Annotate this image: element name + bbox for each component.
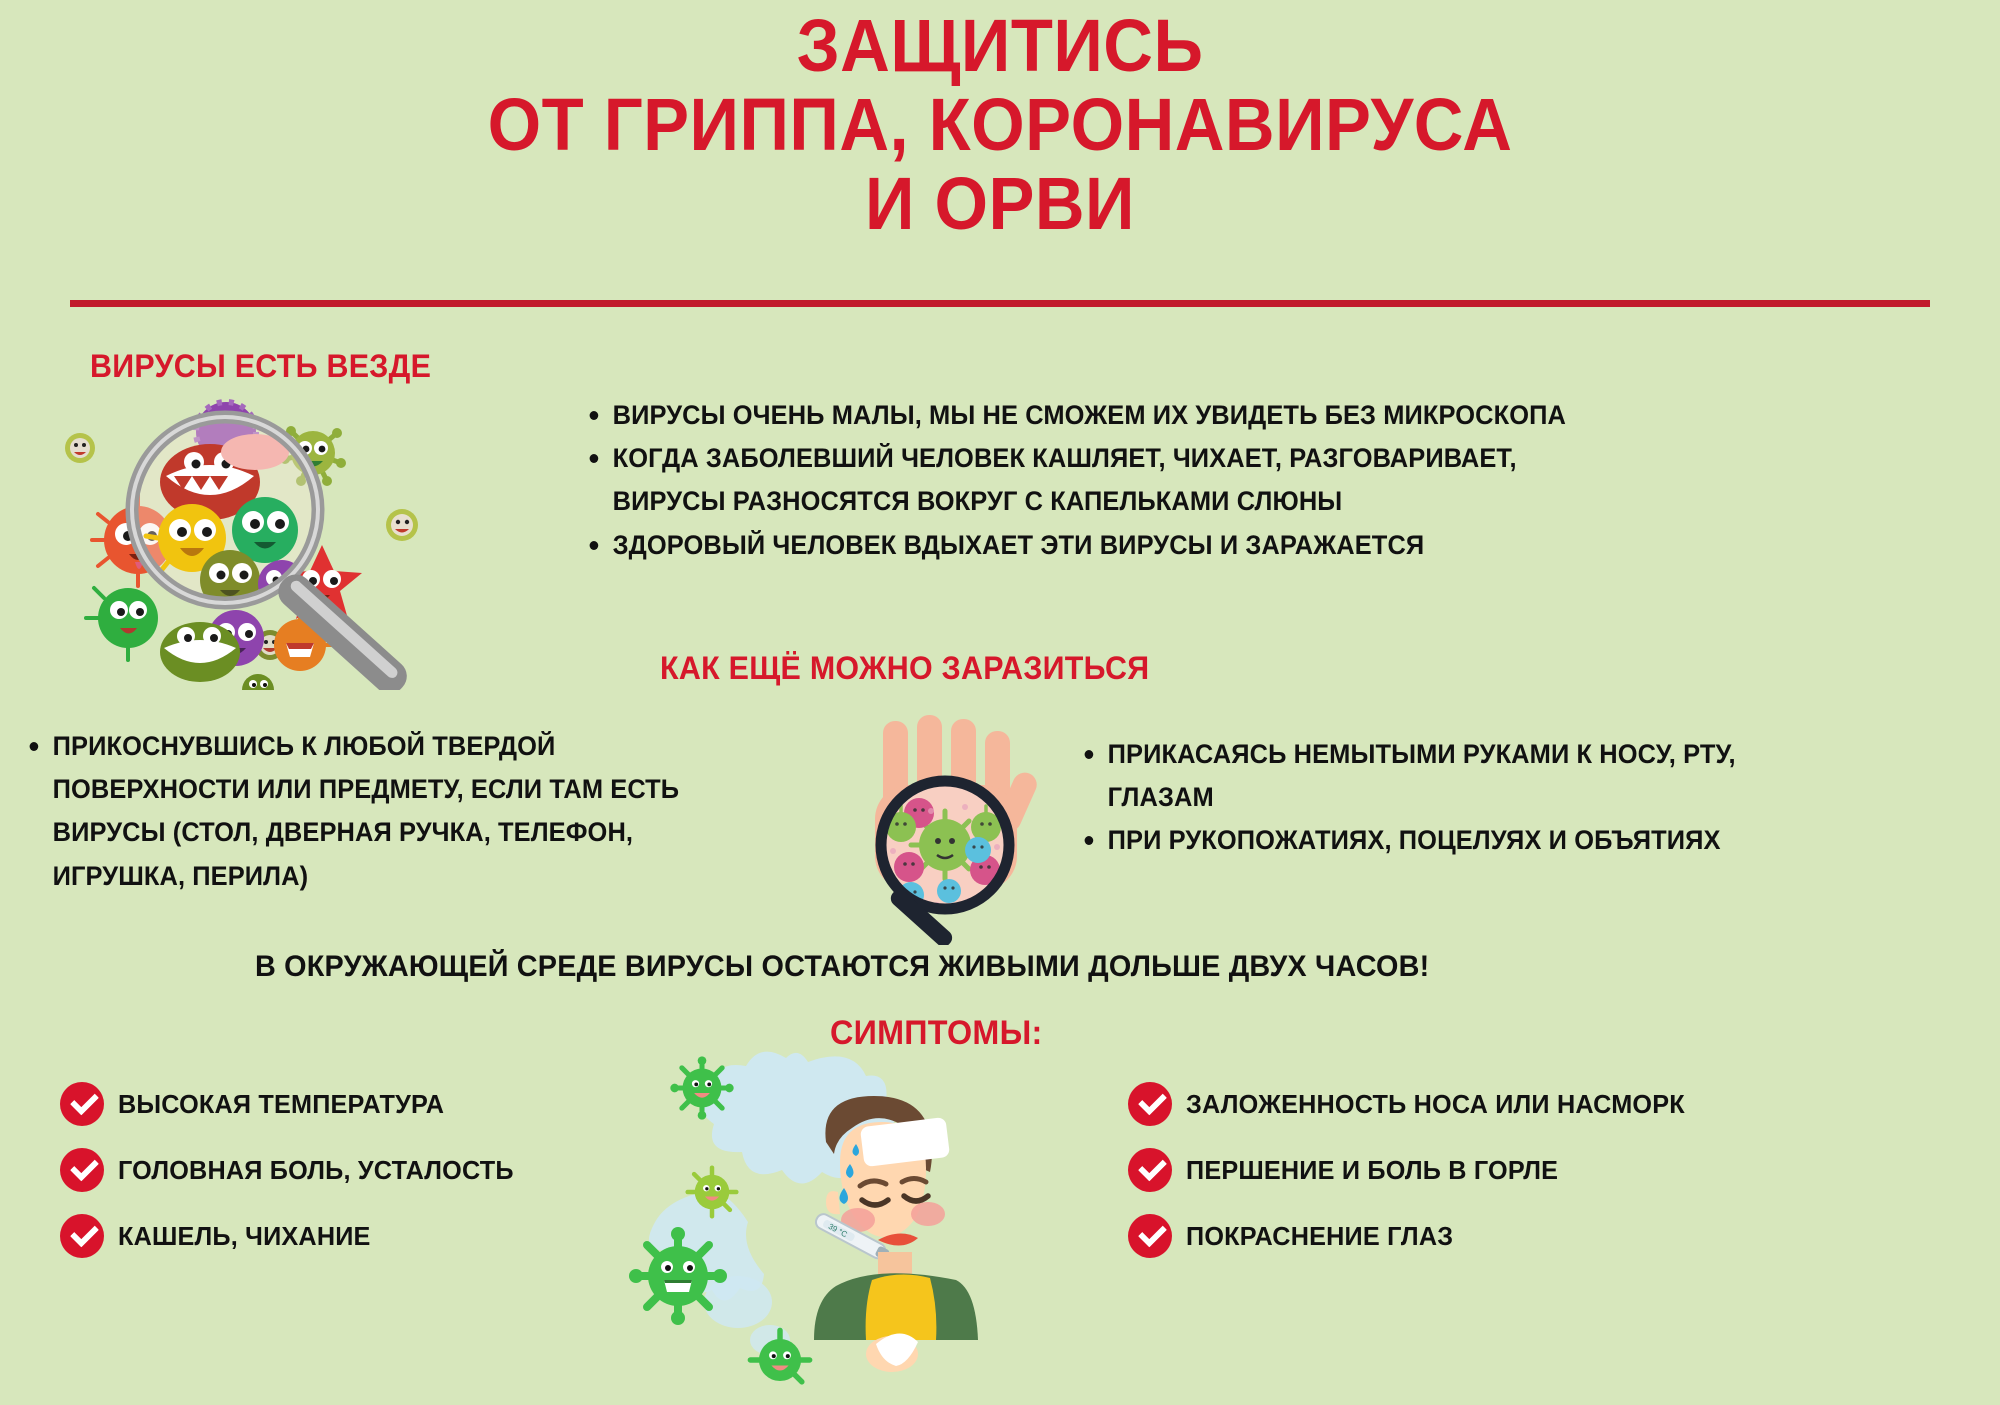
symptom-item-right-1: ЗАЛОЖЕННОСТЬ НОСА ИЛИ НАСМОРК bbox=[1128, 1082, 1700, 1126]
symptom-label: ПЕРШЕНИЕ И БОЛЬ В ГОРЛЕ bbox=[1186, 1155, 1558, 1186]
check-circle-icon bbox=[1128, 1148, 1172, 1192]
title-line-2: ОТ ГРИППА, КОРОНАВИРУСА bbox=[70, 85, 1930, 164]
title-divider bbox=[70, 300, 1930, 307]
list-item: КОГДА ЗАБОЛЕВШИЙ ЧЕЛОВЕК КАШЛЯЕТ, ЧИХАЕТ… bbox=[580, 437, 1566, 480]
list-item: ПРИКОСНУВШИСЬ К ЛЮБОЙ ТВЕРДОЙ bbox=[20, 725, 679, 768]
check-circle-icon bbox=[60, 1148, 104, 1192]
poster-root: ЗАЩИТИСЬ ОТ ГРИППА, КОРОНАВИРУСА И ОРВИ … bbox=[0, 0, 2000, 1403]
symptom-item-right-2: ПЕРШЕНИЕ И БОЛЬ В ГОРЛЕ bbox=[1128, 1148, 1570, 1192]
list-item-continuation: ПОВЕРХНОСТИ ИЛИ ПРЕДМЕТУ, ЕСЛИ ТАМ ЕСТЬ bbox=[20, 768, 679, 811]
symptom-item-left-2: ГОЛОВНАЯ БОЛЬ, УСТАЛОСТЬ bbox=[60, 1148, 526, 1192]
poster-title: ЗАЩИТИСЬ ОТ ГРИППА, КОРОНАВИРУСА И ОРВИ bbox=[0, 6, 2000, 244]
heading-viruses-everywhere: ВИРУСЫ ЕСТЬ ВЕЗДЕ bbox=[90, 348, 431, 385]
symptom-label: КАШЕЛЬ, ЧИХАНИЕ bbox=[118, 1221, 371, 1252]
list-item-continuation: ИГРУШКА, ПЕРИЛА) bbox=[20, 855, 679, 898]
heading-how-else-infect: КАК ЕЩЁ МОЖНО ЗАРАЗИТЬСЯ bbox=[660, 650, 1149, 687]
list-item-continuation: ВИРУСЫ (СТОЛ, ДВЕРНАЯ РУЧКА, ТЕЛЕФОН, bbox=[20, 811, 679, 854]
list-how-else-left: ПРИКОСНУВШИСЬ К ЛЮБОЙ ТВЕРДОЙ ПОВЕРХНОСТ… bbox=[20, 725, 707, 898]
list-item: ВИРУСЫ ОЧЕНЬ МАЛЫ, МЫ НЕ СМОЖЕМ ИХ УВИДЕ… bbox=[580, 394, 1566, 437]
list-item-continuation: ГЛАЗАМ bbox=[1075, 776, 1736, 819]
environment-note: В ОКРУЖАЮЩЕЙ СРЕДЕ ВИРУСЫ ОСТАЮТСЯ ЖИВЫМ… bbox=[255, 950, 1429, 984]
magnifier-germs-illustration bbox=[50, 390, 530, 690]
check-circle-icon bbox=[60, 1082, 104, 1126]
list-item: ПРИКАСАЯСЬ НЕМЫТЫМИ РУКАМИ К НОСУ, РТУ, bbox=[1075, 733, 1736, 776]
symptom-label: ВЫСОКАЯ ТЕМПЕРАТУРА bbox=[118, 1089, 444, 1120]
symptom-item-left-1: ВЫСОКАЯ ТЕМПЕРАТУРА bbox=[60, 1082, 454, 1126]
list-how-else-right: ПРИКАСАЯСЬ НЕМЫТЫМИ РУКАМИ К НОСУ, РТУ, … bbox=[1075, 733, 1763, 863]
sick-boy-illustration: 39 °C bbox=[620, 1040, 1000, 1400]
list-viruses-everywhere: ВИРУСЫ ОЧЕНЬ МАЛЫ, МЫ НЕ СМОЖЕМ ИХ УВИДЕ… bbox=[580, 394, 1607, 567]
hand-magnifier-illustration bbox=[845, 715, 1095, 945]
check-circle-icon bbox=[1128, 1082, 1172, 1126]
list-item-continuation: ВИРУСЫ РАЗНОСЯТСЯ ВОКРУГ С КАПЕЛЬКАМИ СЛ… bbox=[580, 480, 1566, 523]
title-line-3: И ОРВИ bbox=[70, 164, 1930, 243]
list-item: ЗДОРОВЫЙ ЧЕЛОВЕК ВДЫХАЕТ ЭТИ ВИРУСЫ И ЗА… bbox=[580, 524, 1566, 567]
symptom-item-right-3: ПОКРАСНЕНИЕ ГЛАЗ bbox=[1128, 1214, 1462, 1258]
symptom-label: ЗАЛОЖЕННОСТЬ НОСА ИЛИ НАСМОРК bbox=[1186, 1089, 1685, 1120]
check-circle-icon bbox=[1128, 1214, 1172, 1258]
symptom-label: ГОЛОВНАЯ БОЛЬ, УСТАЛОСТЬ bbox=[118, 1155, 514, 1186]
title-line-1: ЗАЩИТИСЬ bbox=[70, 6, 1930, 85]
symptom-item-left-3: КАШЕЛЬ, ЧИХАНИЕ bbox=[60, 1214, 378, 1258]
check-circle-icon bbox=[60, 1214, 104, 1258]
list-item: ПРИ РУКОПОЖАТИЯХ, ПОЦЕЛУЯХ И ОБЪЯТИЯХ bbox=[1075, 819, 1736, 862]
symptom-label: ПОКРАСНЕНИЕ ГЛАЗ bbox=[1186, 1221, 1453, 1252]
